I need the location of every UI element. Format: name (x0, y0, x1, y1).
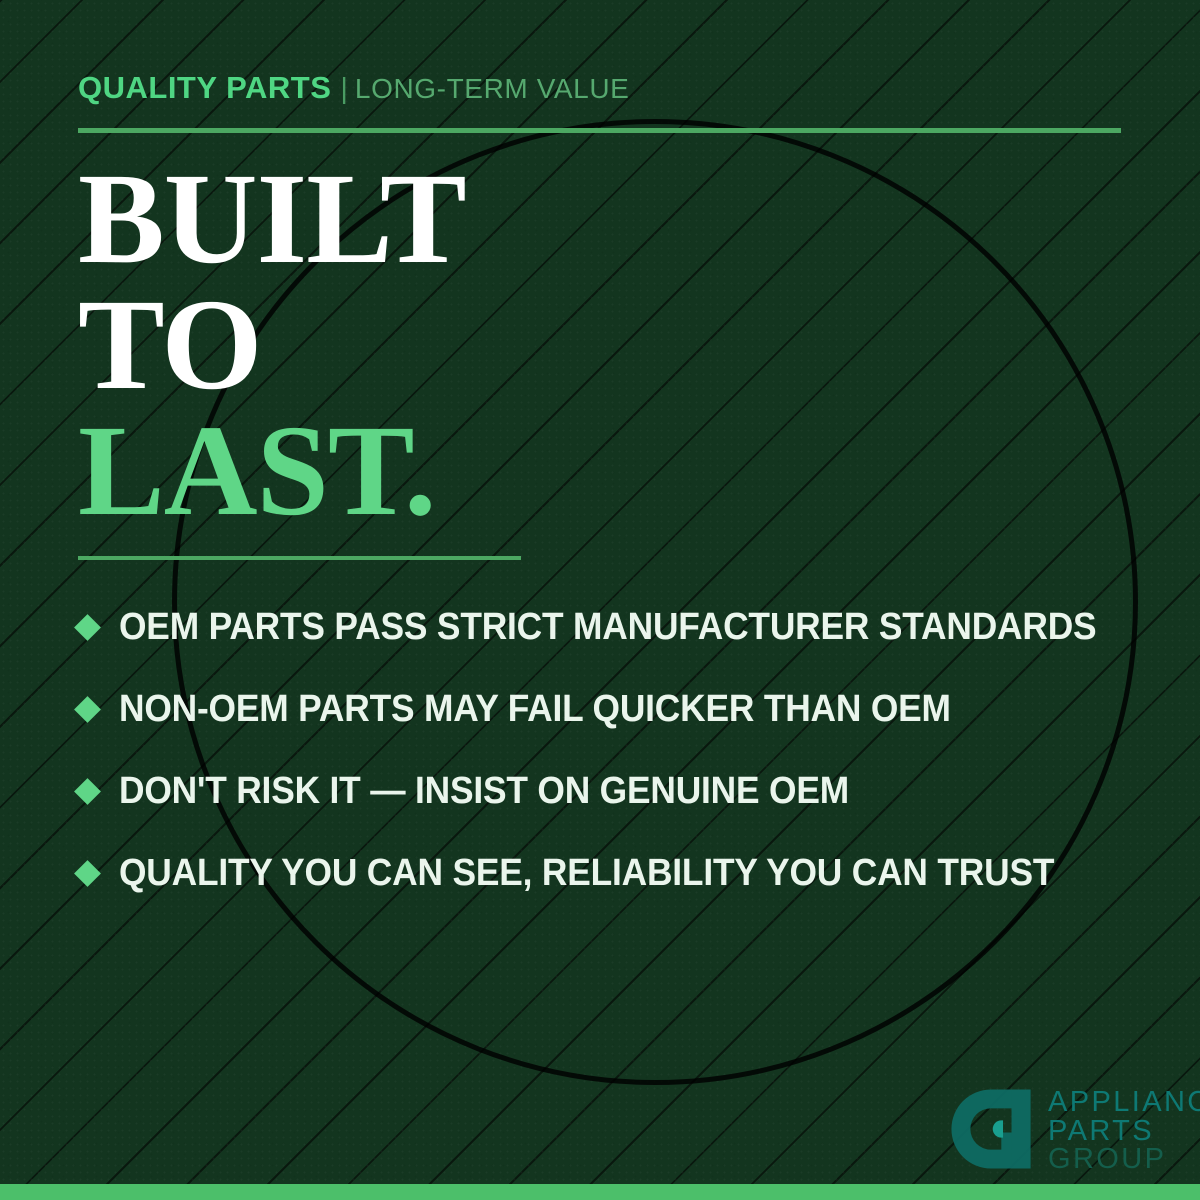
list-item: QUALITY YOU CAN SEE, RELIABILITY YOU CAN… (78, 832, 1148, 914)
diamond-bullet-icon (74, 778, 101, 805)
list-item: NON-OEM PARTS MAY FAIL QUICKER THAN OEM (78, 668, 1148, 750)
headline-line-3: LAST. (78, 408, 466, 534)
eyebrow-header: QUALITY PARTS|LONG-TERM VALUE (78, 72, 629, 104)
brand-line-appliance: APPLIANCE (1048, 1088, 1200, 1117)
g-monogram-icon (948, 1086, 1034, 1172)
diamond-bullet-icon (74, 696, 101, 723)
header-divider (78, 128, 1121, 133)
list-item-label: DON'T RISK IT — INSIST ON GENUINE OEM (119, 770, 849, 813)
list-item-label: QUALITY YOU CAN SEE, RELIABILITY YOU CAN… (119, 852, 1054, 895)
brand-wordmark: APPLIANCE PARTS GROUP (1048, 1086, 1200, 1174)
eyebrow-subtitle: LONG-TERM VALUE (355, 73, 630, 104)
poster-canvas: QUALITY PARTS|LONG-TERM VALUE BUILT TO L… (0, 0, 1200, 1200)
eyebrow-kicker: QUALITY PARTS (78, 70, 331, 105)
brand-line-parts: PARTS (1048, 1117, 1200, 1146)
diamond-bullet-icon (74, 860, 101, 887)
poster-content: QUALITY PARTS|LONG-TERM VALUE BUILT TO L… (0, 0, 1200, 1200)
headline-divider (78, 556, 521, 560)
list-item-label: OEM PARTS PASS STRICT MANUFACTURER STAND… (119, 606, 1096, 649)
diamond-bullet-icon (74, 614, 101, 641)
page-title: BUILT TO LAST. (78, 156, 466, 534)
list-item: DON'T RISK IT — INSIST ON GENUINE OEM (78, 750, 1148, 832)
brand-line-group: GROUP (1048, 1145, 1200, 1174)
brand-logo: APPLIANCE PARTS GROUP (948, 1086, 1200, 1174)
eyebrow-separator: | (340, 73, 348, 105)
benefits-list: OEM PARTS PASS STRICT MANUFACTURER STAND… (78, 586, 1148, 914)
list-item: OEM PARTS PASS STRICT MANUFACTURER STAND… (78, 586, 1148, 668)
headline-line-2: TO (78, 282, 466, 408)
headline-line-1: BUILT (78, 156, 466, 282)
list-item-label: NON-OEM PARTS MAY FAIL QUICKER THAN OEM (119, 688, 951, 731)
